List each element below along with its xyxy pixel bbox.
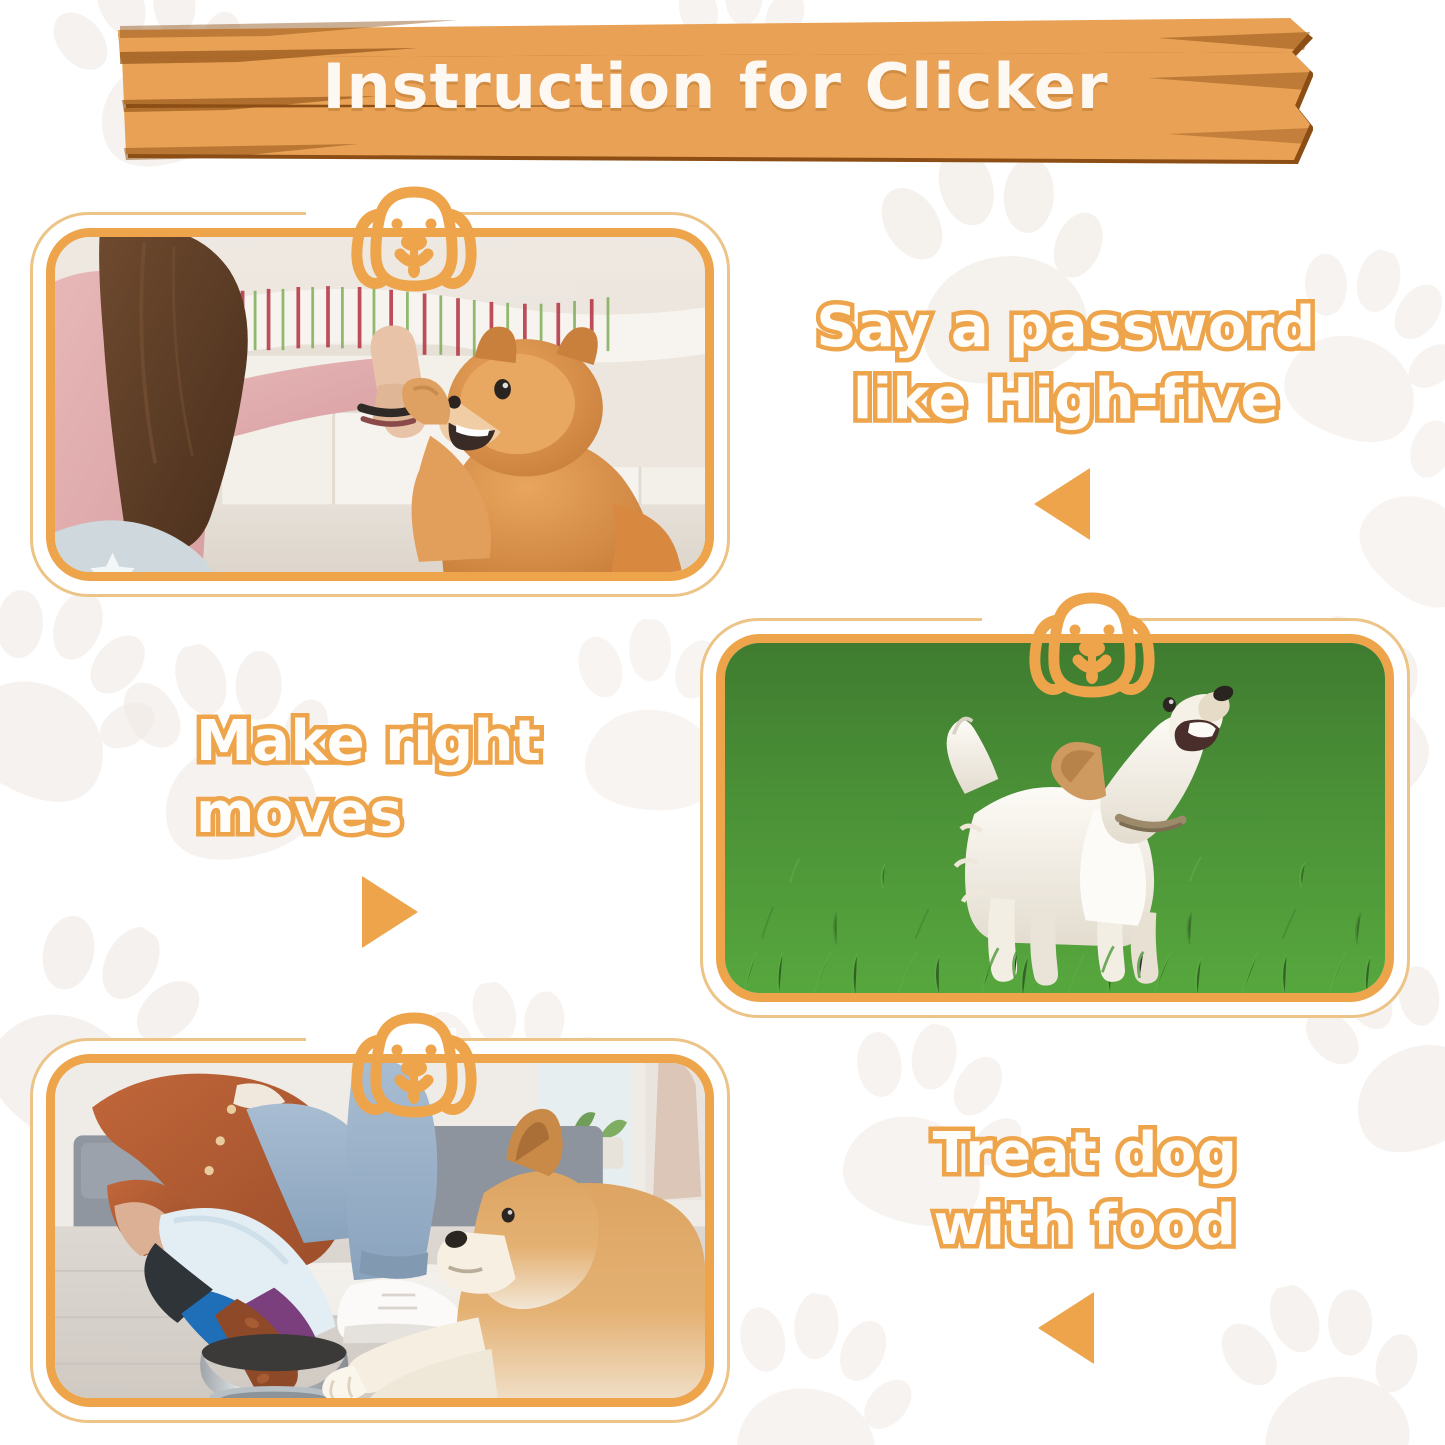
step-1-caption-line-1: Say a password — [786, 292, 1346, 364]
step-3-caption-line-1: Treat dog — [860, 1118, 1310, 1190]
triangle-left-icon — [1034, 468, 1090, 540]
step-1-caption-line-2: like High-five — [786, 364, 1346, 436]
step-2-caption-line-2: moves — [196, 778, 616, 850]
header-banner: Instruction for Clicker — [118, 16, 1313, 168]
triangle-right-icon — [362, 876, 418, 948]
dog-face-icon — [340, 184, 488, 294]
step-3-caption: Treat dog with food — [860, 1118, 1310, 1261]
step-2-caption-line-1: Make right — [196, 706, 616, 778]
page-title: Instruction for Clicker — [118, 50, 1313, 123]
instruction-poster: Instruction for Clicker — [0, 0, 1445, 1445]
dog-face-icon — [1018, 590, 1166, 700]
step-3-caption-line-2: with food — [860, 1190, 1310, 1262]
step-3-photo-card[interactable] — [30, 1038, 730, 1423]
paw-print-icon — [699, 1279, 932, 1445]
paw-print-icon — [1197, 1258, 1445, 1445]
step-2-photo-card[interactable] — [700, 618, 1410, 1018]
dog-face-icon — [340, 1010, 488, 1120]
triangle-left-icon — [1038, 1292, 1094, 1364]
step-1-photo-card[interactable] — [30, 212, 730, 597]
step-1-caption: Say a password like High-five — [786, 292, 1346, 435]
step-2-caption: Make right moves — [196, 706, 616, 849]
paw-print-icon — [0, 555, 197, 844]
